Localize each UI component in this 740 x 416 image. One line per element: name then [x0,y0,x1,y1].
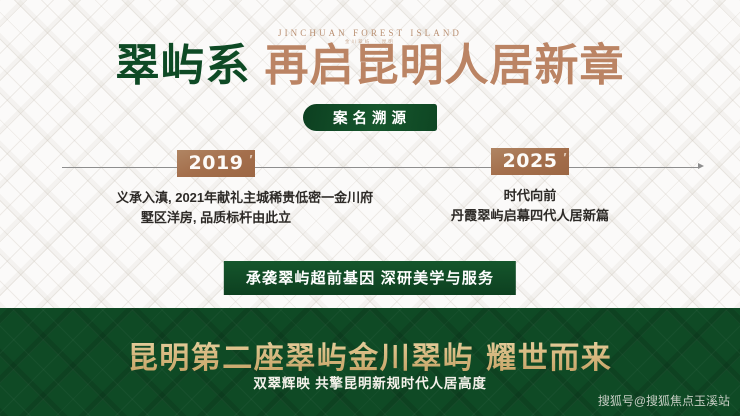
year-label: 2025 [503,150,558,172]
timeline-arrow-icon [698,163,704,169]
timeline-node-2019: 2019 ′ 义承入滇, 2021年献礼主城稀贵低密一金川府 墅区洋房, 品质标… [116,150,316,228]
year-tick-mark: ′ [563,150,566,165]
timeline-desc-line2: 丹霞翠屿启幕四代人居新篇 [430,206,630,226]
section-badge-label: 案名溯源 [333,107,411,128]
timeline-desc-line1: 时代向前 [430,186,630,206]
year-chip-2025: 2025 ′ [491,148,570,175]
year-chip-2019: 2019 ′ [177,150,256,177]
timeline-node-2025: 2025 ′ 时代向前 丹霞翠屿启幕四代人居新篇 [430,148,630,227]
timeline-desc-2025: 时代向前 丹霞翠屿启幕四代人居新篇 [430,186,630,227]
timeline-desc-line2: 墅区洋房, 品质标杆由此立 [116,208,316,228]
page-title-series: 翠屿系 [116,40,251,91]
brand-name-en: JINCHUAN FOREST ISLAND [0,28,740,38]
year-label: 2019 [189,152,244,174]
bottom-section: 昆明第二座翠屿金川翠屿 耀世而来 双翠辉映 共擎昆明新规时代人居高度 搜狐号@搜… [0,308,740,416]
poster-root: JINCHUAN FOREST ISLAND 金川翠屿 · 昆明 翠屿系再启昆明… [0,0,740,416]
mid-banner-label: 承袭翠屿超前基因 深研美学与服务 [246,270,494,287]
bottom-subheadline: 双翠辉映 共擎昆明新规时代人居高度 [0,372,740,392]
page-title: 翠屿系再启昆明人居新章 [0,44,740,88]
year-tick-mark: ′ [249,152,252,167]
mid-banner: 承袭翠屿超前基因 深研美学与服务 [224,261,516,295]
watermark-credit: 搜狐号@搜狐焦点玉溪站 [598,392,730,409]
section-badge: 案名溯源 [303,104,437,131]
timeline-desc-2019: 义承入滇, 2021年献礼主城稀贵低密一金川府 墅区洋房, 品质标杆由此立 [116,188,316,228]
page-title-tagline: 再启昆明人居新章 [265,40,625,91]
bottom-headline: 昆明第二座翠屿金川翠屿 耀世而来 [0,333,740,377]
timeline-desc-line1: 义承入滇, 2021年献礼主城稀贵低密一金川府 [116,188,316,208]
